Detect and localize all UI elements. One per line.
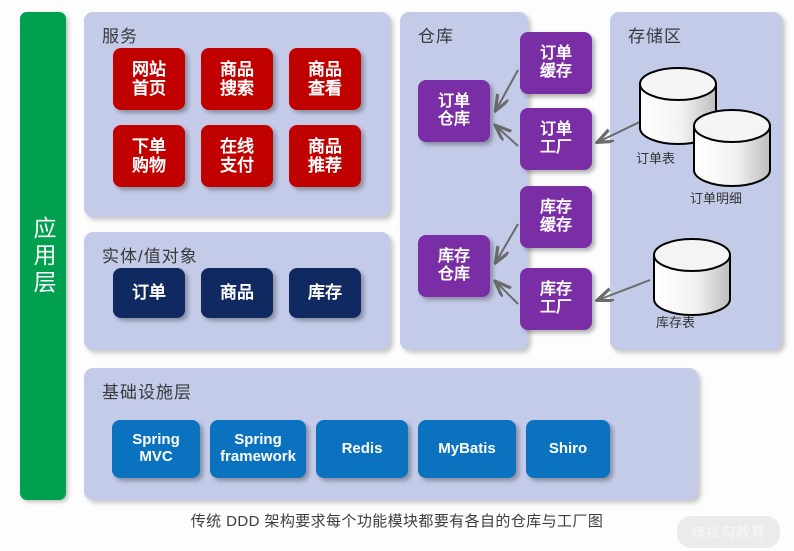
- entity-box-product[interactable]: 商品: [201, 268, 273, 318]
- support-box-inventory-cache[interactable]: 库存 缓存: [520, 186, 592, 248]
- warehouse-box-line1: 订单: [438, 93, 470, 111]
- warehouse-box-inventory-repository[interactable]: 库存 仓库: [418, 235, 490, 297]
- warehouse-box-line2: 仓库: [438, 111, 470, 129]
- service-box-product-recommend[interactable]: 商品 推荐: [289, 125, 361, 187]
- infra-box-line2: framework: [220, 449, 296, 466]
- cylinder-label-inventory-table: 库存表: [656, 312, 695, 331]
- service-box-line1: 商品: [308, 60, 342, 79]
- support-box-line2: 工厂: [540, 139, 572, 157]
- support-box-order-cache[interactable]: 订单 缓存: [520, 32, 592, 94]
- support-box-order-factory[interactable]: 订单 工厂: [520, 108, 592, 170]
- entity-box-inventory[interactable]: 库存: [289, 268, 361, 318]
- infra-box-mybatis[interactable]: MyBatis: [418, 420, 516, 478]
- warehouse-box-order-repository[interactable]: 订单 仓库: [418, 80, 490, 142]
- panel-service-title: 服务: [102, 22, 138, 47]
- service-box-website-home[interactable]: 网站 首页: [113, 48, 185, 110]
- entity-box-label: 库存: [308, 283, 342, 302]
- infra-box-line2: MVC: [139, 449, 172, 466]
- service-box-line2: 搜索: [220, 79, 254, 98]
- application-layer-bar: 应用层: [20, 12, 66, 500]
- infra-box-shiro[interactable]: Shiro: [526, 420, 610, 478]
- service-box-product-search[interactable]: 商品 搜索: [201, 48, 273, 110]
- service-box-line1: 下单: [132, 137, 166, 156]
- panel-warehouse: 仓库: [400, 12, 528, 350]
- support-box-line1: 订单: [540, 45, 572, 63]
- service-box-line2: 支付: [220, 156, 254, 175]
- service-box-line2: 推荐: [308, 156, 342, 175]
- infra-box-line1: Redis: [342, 441, 383, 458]
- service-box-online-payment[interactable]: 在线 支付: [201, 125, 273, 187]
- service-box-line2: 购物: [132, 156, 166, 175]
- panel-storage-title: 存储区: [628, 22, 682, 47]
- entity-box-label: 商品: [220, 283, 254, 302]
- watermark-badge: @拉勾教育: [677, 516, 780, 548]
- infra-box-spring-framework[interactable]: Spring framework: [210, 420, 306, 478]
- service-box-line1: 网站: [132, 60, 166, 79]
- support-box-line2: 缓存: [540, 217, 572, 235]
- support-box-line2: 工厂: [540, 299, 572, 317]
- support-box-line2: 缓存: [540, 63, 572, 81]
- service-box-product-view[interactable]: 商品 查看: [289, 48, 361, 110]
- entity-box-label: 订单: [132, 283, 166, 302]
- warehouse-box-line1: 库存: [438, 248, 470, 266]
- infra-box-line1: MyBatis: [438, 441, 496, 458]
- infra-box-line1: Spring: [132, 432, 180, 449]
- cylinder-label-order-detail: 订单明细: [690, 188, 742, 207]
- infra-box-spring-mvc[interactable]: Spring MVC: [112, 420, 200, 478]
- database-cylinder-inventory-table: [650, 237, 734, 323]
- panel-warehouse-title: 仓库: [418, 22, 454, 47]
- database-cylinder-order-detail: [690, 108, 774, 194]
- service-box-line2: 查看: [308, 79, 342, 98]
- diagram-canvas: 应用层 服务 网站 首页 商品 搜索 商品 查看 下单 购物 在线 支付 商品 …: [0, 0, 794, 551]
- service-box-place-order[interactable]: 下单 购物: [113, 125, 185, 187]
- entity-box-order[interactable]: 订单: [113, 268, 185, 318]
- panel-infrastructure-title: 基础设施层: [102, 378, 192, 403]
- support-box-line1: 库存: [540, 281, 572, 299]
- warehouse-box-line2: 仓库: [438, 266, 470, 284]
- application-layer-label: 应用层: [29, 216, 57, 297]
- support-box-line1: 库存: [540, 199, 572, 217]
- service-box-line1: 在线: [220, 137, 254, 156]
- service-box-line1: 商品: [220, 60, 254, 79]
- infra-box-redis[interactable]: Redis: [316, 420, 408, 478]
- support-box-line1: 订单: [540, 121, 572, 139]
- service-box-line1: 商品: [308, 137, 342, 156]
- diagram-caption: 传统 DDD 架构要求每个功能模块都要有各自的仓库与工厂图: [0, 510, 794, 531]
- panel-entity-title: 实体/值对象: [102, 242, 198, 267]
- cylinder-label-order-table: 订单表: [636, 148, 675, 167]
- infra-box-line1: Spring: [234, 432, 282, 449]
- infra-box-line1: Shiro: [549, 441, 587, 458]
- service-box-line2: 首页: [132, 79, 166, 98]
- support-box-inventory-factory[interactable]: 库存 工厂: [520, 268, 592, 330]
